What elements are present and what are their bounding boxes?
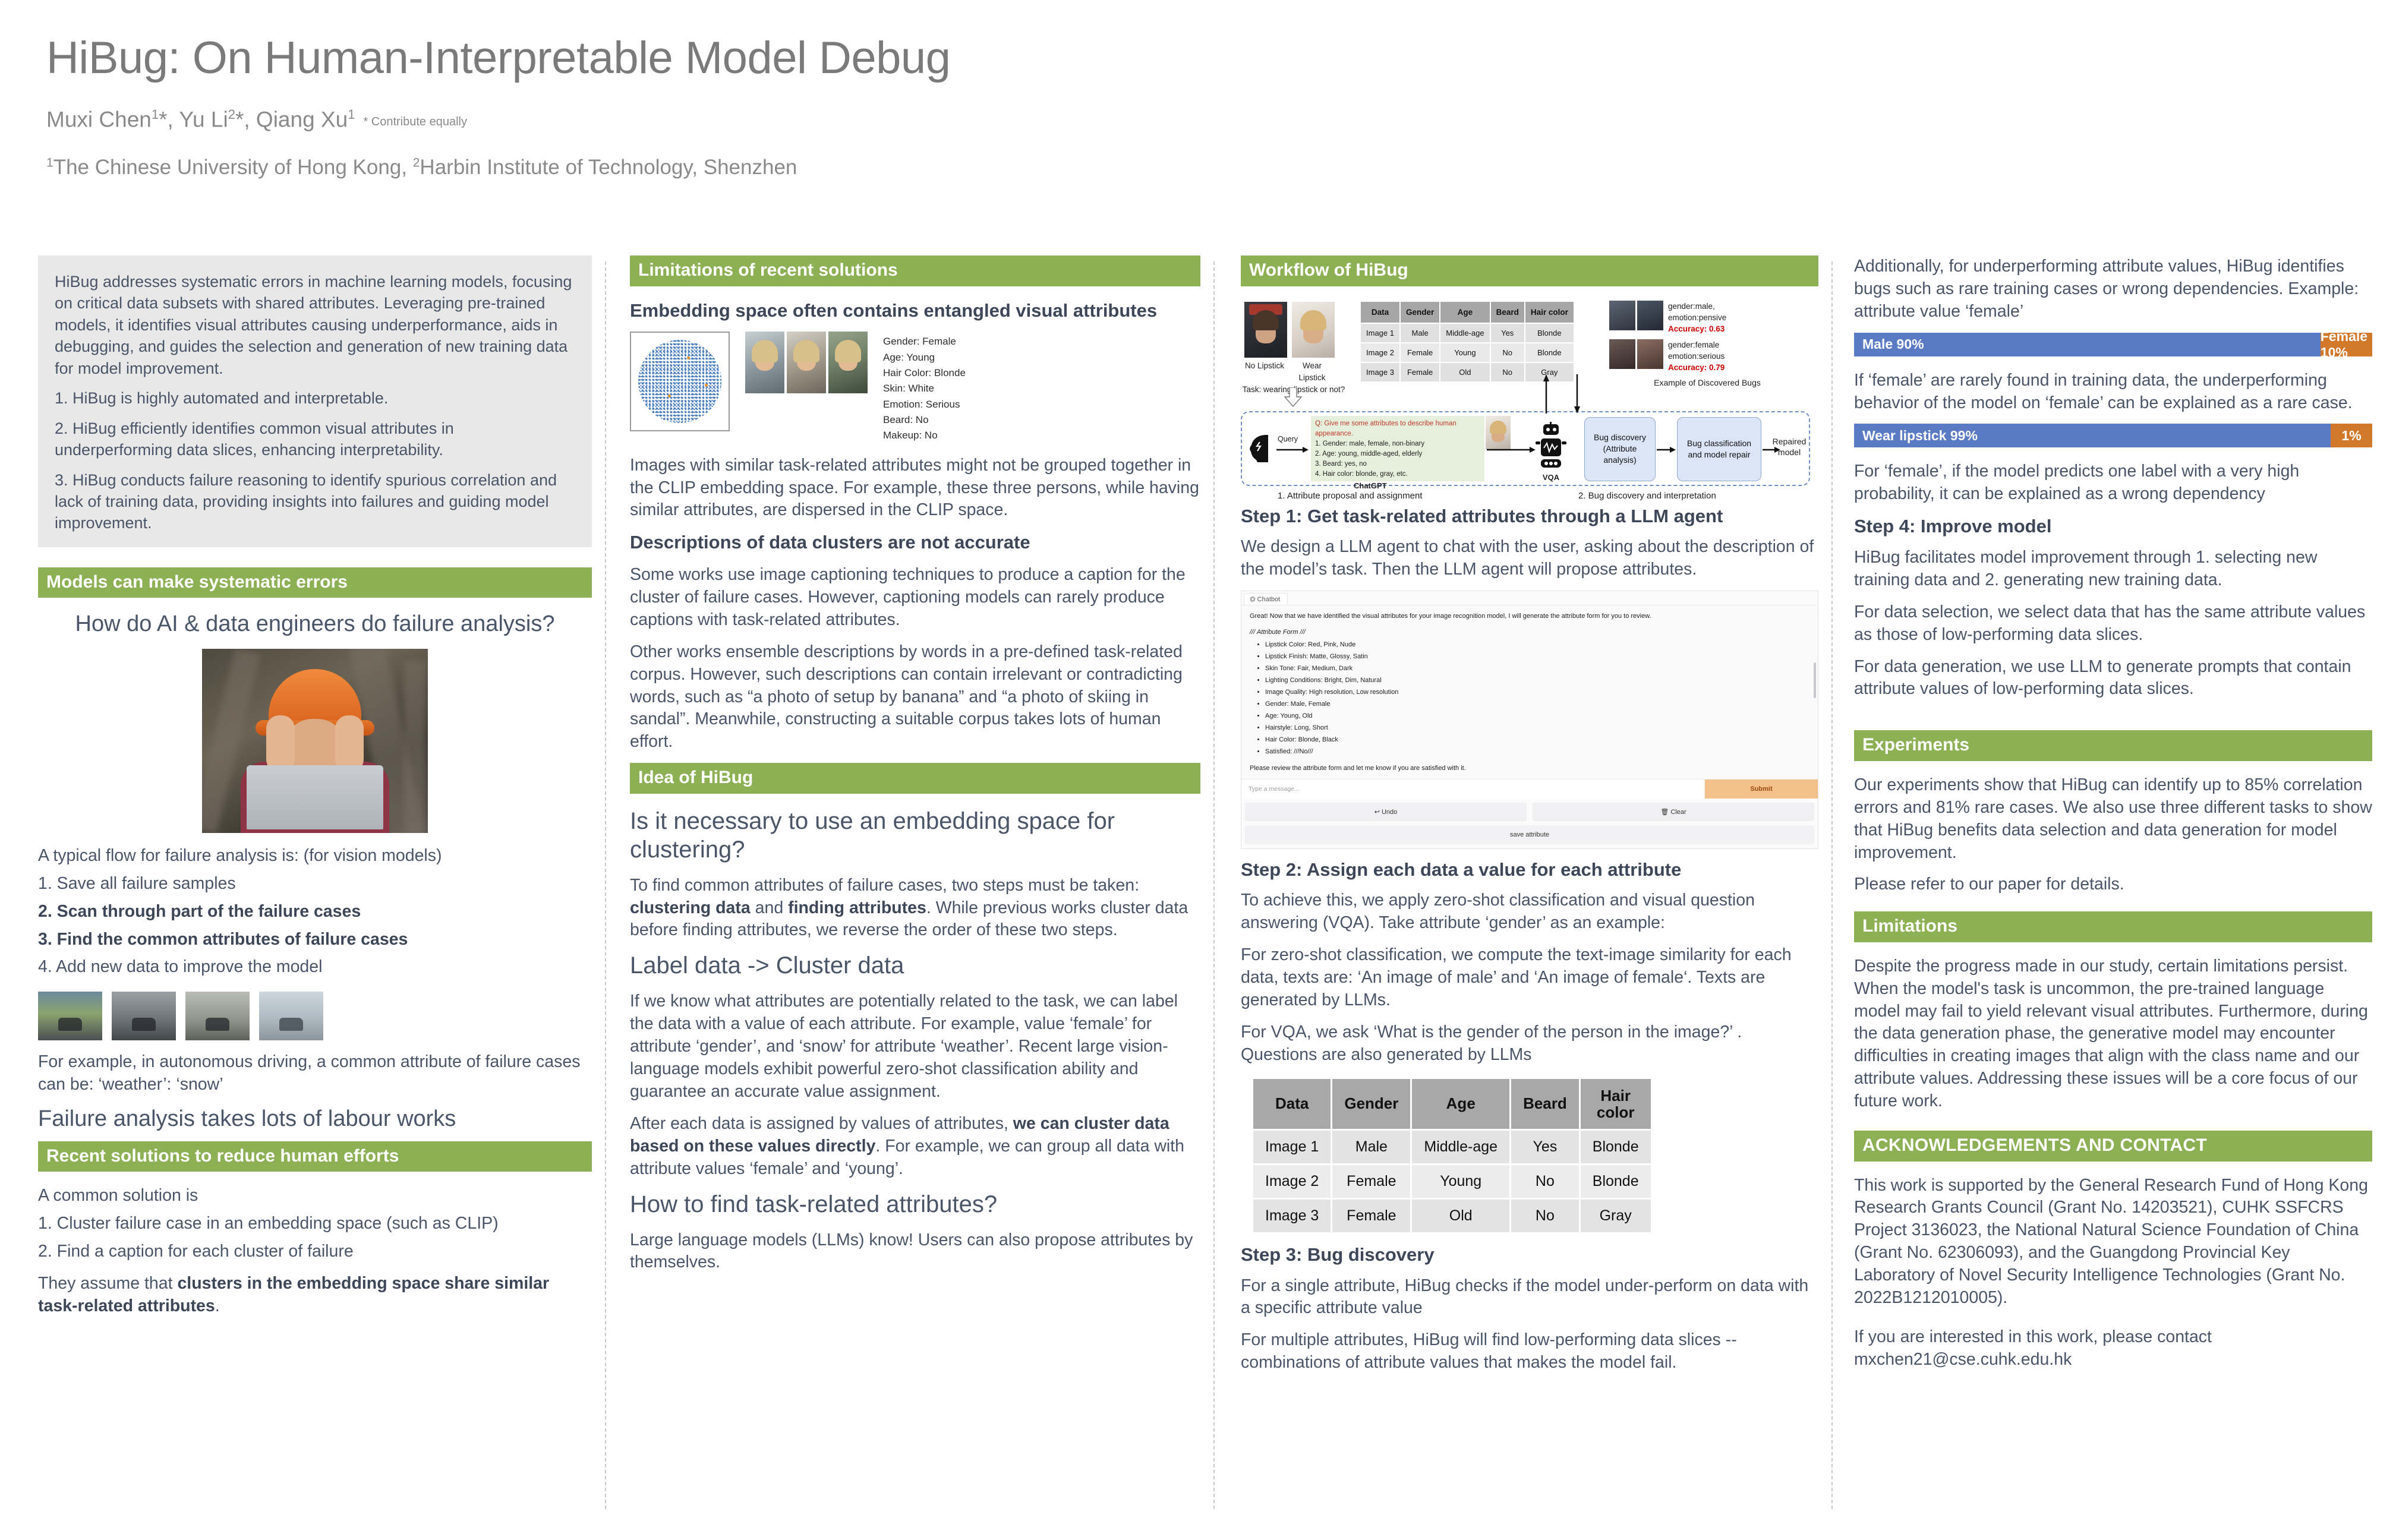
attribute-form-list: Lipstick Color: Red, Pink, Nude Lipstick… bbox=[1265, 639, 1809, 758]
prompt-item-2: 2. Age: young, middle-aged, elderly bbox=[1315, 449, 1480, 459]
limitations-paragraph: Despite the progress made in our study, … bbox=[1854, 955, 2372, 1113]
author-list: Muxi Chen1*, Yu Li2*, Qiang Xu1 * Contri… bbox=[46, 107, 2396, 132]
underperforming-intro: Additionally, for underperforming attrib… bbox=[1854, 255, 2372, 323]
failure-analysis-question: How do AI & data engineers do failure an… bbox=[38, 611, 592, 638]
submit-button[interactable]: Submit bbox=[1705, 780, 1818, 799]
th-data: Data bbox=[1360, 301, 1400, 323]
face-image-2 bbox=[787, 332, 826, 393]
q1-text-a: To find common attributes of failure cas… bbox=[630, 876, 1139, 895]
bug1-line2: emotion:pensive bbox=[1668, 312, 1726, 323]
labour-line: Failure analysis takes lots of labour wo… bbox=[38, 1106, 592, 1133]
bar-segment-other: 1% bbox=[2331, 424, 2372, 447]
cell-age: Young bbox=[1411, 1164, 1511, 1198]
bug2-line1: gender:female bbox=[1668, 339, 1725, 351]
bug2-face-b bbox=[1637, 339, 1663, 369]
undo-icon: ↩ bbox=[1374, 809, 1380, 816]
save-attribute-button[interactable]: save attribute bbox=[1245, 825, 1814, 844]
wear-lipstick-image bbox=[1292, 302, 1335, 358]
acknowledgements-paragraph: This work is supported by the General Re… bbox=[1854, 1175, 2372, 1309]
cell-gender: Female bbox=[1400, 362, 1440, 382]
list-item: Gender: Male, Female bbox=[1265, 698, 1809, 710]
section-header-recent-solutions: Recent solutions to reduce human efforts bbox=[38, 1141, 592, 1172]
section-header-acknowledgements: ACKNOWLEDGEMENTS AND CONTACT bbox=[1854, 1131, 2372, 1162]
undo-button[interactable]: ↩ Undo bbox=[1245, 803, 1527, 821]
table-row: Image 3 Female Old No Gray bbox=[1360, 362, 1574, 382]
poster-columns: HiBug addresses systematic errors in mac… bbox=[0, 255, 2396, 1539]
bug-example-1: gender:male, emotion:pensive Accuracy: 0… bbox=[1609, 301, 1805, 334]
bug1-face-b bbox=[1637, 301, 1663, 330]
assume-suffix: . bbox=[215, 1296, 220, 1315]
step1-text: We design a LLM agent to chat with the u… bbox=[1241, 536, 1818, 581]
cell-gender: Female bbox=[1332, 1164, 1411, 1198]
cell-age: Old bbox=[1440, 362, 1490, 382]
subhead-entangled-attributes: Embedding space often contains entangled… bbox=[630, 299, 1200, 323]
clip-attr-hair: Hair Color: Blonde bbox=[883, 365, 966, 381]
cell-hair: Blonde bbox=[1580, 1129, 1651, 1164]
attribute-form-title: /// Attribute Form /// bbox=[1250, 629, 1809, 636]
poster-header: HiBug: On Human-Interpretable Model Debu… bbox=[0, 0, 2396, 179]
step2-paragraph-3: For VQA, we ask ‘What is the gender of t… bbox=[1241, 1021, 1818, 1066]
bug2-face-a bbox=[1609, 339, 1635, 369]
common-solution-intro: A common solution is bbox=[38, 1185, 592, 1207]
worried-engineer-photo bbox=[202, 649, 428, 833]
affiliations: 1The Chinese University of Hong Kong, 2H… bbox=[46, 156, 2396, 179]
th-age: Age bbox=[1440, 301, 1490, 323]
flow-step-2: 2. Scan through part of the failure case… bbox=[38, 901, 592, 923]
cell-data: Image 2 bbox=[1253, 1164, 1332, 1198]
table-row: Image 3 Female Old No Gray bbox=[1253, 1198, 1652, 1233]
chatbot-scrollbar[interactable] bbox=[1814, 662, 1816, 698]
workflow-footer-2: 2. Bug discovery and interpretation bbox=[1578, 491, 1716, 501]
th-hair-color: Haircolor bbox=[1580, 1078, 1651, 1129]
idea-question-3: How to find task-related attributes? bbox=[630, 1190, 1200, 1219]
list-item: Skin Tone: Fair, Medium, Dark bbox=[1265, 662, 1809, 674]
column-1: HiBug addresses systematic errors in mac… bbox=[0, 255, 606, 1539]
list-item: Age: Young, Old bbox=[1265, 710, 1809, 722]
clip-figure: Gender: Female Age: Young Hair Color: Bl… bbox=[630, 332, 1200, 443]
q2-text-a: After each data is assigned by values of… bbox=[630, 1114, 1013, 1133]
chatbot-tab[interactable]: ⏣ Chatbot bbox=[1244, 593, 1288, 605]
bar-segment-male: Male 90% bbox=[1854, 333, 2321, 356]
chatbot-message-input[interactable]: Type a message... bbox=[1241, 780, 1705, 799]
chatbot-button-row: ↩ Undo 🗑 Clear bbox=[1241, 799, 1818, 825]
section-header-limitations: Limitations of recent solutions bbox=[630, 255, 1200, 286]
cell-gender: Male bbox=[1400, 323, 1440, 343]
subhead-descriptions-not-accurate: Descriptions of data clusters are not ac… bbox=[630, 531, 1200, 554]
lipstick-prediction-bar: Wear lipstick 99% 1% bbox=[1854, 424, 2372, 447]
cell-age: Old bbox=[1411, 1198, 1511, 1233]
column-4: Additionally, for underperforming attrib… bbox=[1833, 255, 2396, 1539]
list-item: Lighting Conditions: Bright, Dim, Natura… bbox=[1265, 674, 1809, 686]
prompt-item-1: 1. Gender: male, female, non-binary bbox=[1315, 439, 1480, 449]
step4-paragraph-1: HiBug facilitates model improvement thro… bbox=[1854, 547, 2372, 592]
section-header-systematic-errors: Models can make systematic errors bbox=[38, 567, 592, 598]
idea-q2-paragraph-2: After each data is assigned by values of… bbox=[630, 1113, 1200, 1181]
bugs-caption: Example of Discovered Bugs bbox=[1609, 378, 1805, 387]
experiments-paragraph-2: Please refer to our paper for details. bbox=[1854, 873, 2372, 896]
chat-icon: ⏣ bbox=[1250, 596, 1256, 603]
abstract-paragraph: HiBug addresses systematic errors in mac… bbox=[55, 271, 575, 379]
cell-gender: Female bbox=[1332, 1198, 1411, 1233]
vqa-label: VQA bbox=[1536, 473, 1566, 482]
table-header-row: Data Gender Age Beard Haircolor bbox=[1253, 1078, 1652, 1129]
table-row: Image 2 Female Young No Blonde bbox=[1360, 343, 1574, 362]
th-gender: Gender bbox=[1400, 301, 1440, 323]
cell-data: Image 3 bbox=[1360, 362, 1400, 382]
driving-caption: For example, in autonomous driving, a co… bbox=[38, 1051, 592, 1096]
clear-button[interactable]: 🗑 Clear bbox=[1533, 803, 1814, 821]
q1-text-b: and bbox=[751, 898, 788, 917]
bug-discovery-box: Bug discovery (Attribute analysis) bbox=[1584, 417, 1656, 481]
table-row: Image 2 Female Young No Blonde bbox=[1253, 1164, 1652, 1198]
cell-beard: Yes bbox=[1490, 323, 1525, 343]
table-row: Image 1 Male Middle-age Yes Blonde bbox=[1360, 323, 1574, 343]
step4-heading: Step 4: Improve model bbox=[1854, 515, 2372, 538]
gender-distribution-bar: Male 90% Female 10% bbox=[1854, 333, 2372, 356]
chatbot-tab-label: Chatbot bbox=[1257, 596, 1281, 603]
limitations-paragraph-2: Other works ensemble descriptions by wor… bbox=[630, 641, 1200, 753]
bar-segment-wear-lipstick: Wear lipstick 99% bbox=[1854, 424, 2331, 447]
prompt-item-4: 4. Hair color: blonde, gray, etc. bbox=[1315, 469, 1480, 479]
chatgpt-prompt-box: Q: Give me some attributes to describe h… bbox=[1311, 416, 1484, 481]
bug1-face-a bbox=[1609, 301, 1635, 330]
cell-beard: No bbox=[1511, 1198, 1580, 1233]
clip-attr-beard: Beard: No bbox=[883, 412, 966, 428]
thumb-mist bbox=[185, 992, 250, 1040]
label-no-lipstick: No Lipstick bbox=[1243, 360, 1286, 384]
th-gender: Gender bbox=[1332, 1078, 1411, 1129]
clip-attr-makeup: Makeup: No bbox=[883, 428, 966, 443]
section-header-workflow: Workflow of HiBug bbox=[1241, 255, 1818, 286]
repaired-model-label: Repaired model bbox=[1770, 436, 1809, 457]
idea-question-1-text: To find common attributes of failure cas… bbox=[630, 875, 1200, 942]
query-label: Query bbox=[1278, 435, 1298, 443]
idea-question-2: Label data -> Cluster data bbox=[630, 951, 1200, 980]
table-header-row: Data Gender Age Beard Hair color bbox=[1360, 301, 1574, 323]
th-beard: Beard bbox=[1490, 301, 1525, 323]
clip-attr-emotion: Emotion: Serious bbox=[883, 397, 966, 412]
vqa-robot-icon bbox=[1536, 422, 1566, 473]
chatbot-message-area: Great! Now that we have identified the v… bbox=[1241, 605, 1818, 779]
flow-step-1: 1. Save all failure samples bbox=[38, 873, 592, 895]
cell-beard: No bbox=[1490, 362, 1525, 382]
thumb-fog bbox=[112, 992, 176, 1040]
thumb-rain bbox=[38, 992, 102, 1040]
cell-gender: Male bbox=[1332, 1129, 1411, 1164]
chatbot-tail-message: Please review the attribute form and let… bbox=[1250, 765, 1809, 772]
abstract-point-3: 3. HiBug conducts failure reasoning to i… bbox=[55, 469, 575, 534]
bug-example-2: gender:female emotion:serious Accuracy: … bbox=[1609, 339, 1805, 373]
abstract-point-2: 2. HiBug efficiently identifies common v… bbox=[55, 418, 575, 461]
step1-heading: Step 1: Get task-related attributes thro… bbox=[1241, 505, 1818, 528]
experiments-paragraph-1: Our experiments show that HiBug can iden… bbox=[1854, 774, 2372, 864]
trash-icon: 🗑 bbox=[1660, 809, 1669, 816]
th-age: Age bbox=[1411, 1078, 1511, 1129]
step3-heading: Step 3: Bug discovery bbox=[1241, 1244, 1818, 1267]
contact-paragraph: If you are interested in this work, plea… bbox=[1854, 1326, 2372, 1371]
face-image-1 bbox=[745, 332, 784, 393]
poster-root: HiBug: On Human-Interpretable Model Debu… bbox=[0, 0, 2396, 1540]
cell-gender: Female bbox=[1400, 343, 1440, 362]
cell-age: Middle-age bbox=[1411, 1129, 1511, 1164]
bar-segment-female: Female 10% bbox=[2321, 333, 2372, 356]
q1-bold-b: finding attributes bbox=[788, 898, 926, 917]
idea-q2-paragraph-1: If we know what attributes are potential… bbox=[630, 990, 1200, 1103]
th-hair: Hair color bbox=[1525, 301, 1574, 323]
common-solution-step-1: 1. Cluster failure case in an embedding … bbox=[38, 1213, 592, 1235]
similar-faces-row bbox=[745, 332, 868, 393]
cell-beard: No bbox=[1490, 343, 1525, 362]
bug-classification-box: Bug classification and model repair bbox=[1677, 417, 1761, 481]
list-item: Image Quality: High resolution, Low reso… bbox=[1265, 686, 1809, 698]
section-header-limitations-2: Limitations bbox=[1854, 911, 2372, 942]
clip-attr-skin: Skin: White bbox=[883, 381, 966, 396]
common-solution-step-2: 2. Find a caption for each cluster of fa… bbox=[38, 1241, 592, 1263]
face-image-3 bbox=[828, 332, 868, 393]
flow-step-3: 3. Find the common attributes of failure… bbox=[38, 929, 592, 951]
workflow-diagram: No Lipstick Wear Lipstick Task: wearing … bbox=[1241, 299, 1811, 496]
chatbot-lead-message: Great! Now that we have identified the v… bbox=[1250, 611, 1809, 621]
vqa-input-image bbox=[1486, 416, 1511, 449]
prompt-question: Q: Give me some attributes to describe h… bbox=[1315, 419, 1480, 439]
no-lipstick-image bbox=[1244, 302, 1287, 358]
cell-data: Image 3 bbox=[1253, 1198, 1332, 1233]
cell-hair: Blonde bbox=[1525, 323, 1574, 343]
abstract-box: HiBug addresses systematic errors in mac… bbox=[38, 255, 592, 547]
column-2: Limitations of recent solutions Embeddin… bbox=[606, 255, 1215, 1539]
column-3: Workflow of HiBug No Lipstick Wear Lipst… bbox=[1215, 255, 1833, 1539]
cell-beard: No bbox=[1511, 1164, 1580, 1198]
cell-hair: Blonde bbox=[1525, 343, 1574, 362]
list-item: Lipstick Color: Red, Pink, Nude bbox=[1265, 639, 1809, 651]
cell-data: Image 2 bbox=[1360, 343, 1400, 362]
flow-step-4: 4. Add new data to improve the model bbox=[38, 956, 592, 979]
step4-paragraph-2: For data selection, we select data that … bbox=[1854, 601, 2372, 646]
limitations-paragraph-1: Some works use image captioning techniqu… bbox=[630, 564, 1200, 632]
discovered-bugs-panel: gender:male, emotion:pensive Accuracy: 0… bbox=[1609, 301, 1805, 388]
step2-heading: Step 2: Assign each data a value for eac… bbox=[1241, 859, 1818, 882]
step2-paragraph-1: To achieve this, we apply zero-shot clas… bbox=[1241, 889, 1818, 935]
driving-thumbnails bbox=[38, 992, 592, 1040]
step3-paragraph-1: For a single attribute, HiBug checks if … bbox=[1241, 1275, 1818, 1320]
table-row: Image 1 Male Middle-age Yes Blonde bbox=[1253, 1129, 1652, 1164]
section-header-experiments: Experiments bbox=[1854, 730, 2372, 761]
clip-attr-age: Age: Young bbox=[883, 350, 966, 365]
task-example-images bbox=[1244, 302, 1335, 358]
brain-icon bbox=[1248, 434, 1275, 463]
workflow-footer-1: 1. Attribute proposal and assignment bbox=[1278, 491, 1423, 501]
cell-beard: Yes bbox=[1511, 1129, 1580, 1164]
idea-q3-paragraph: Large language models (LLMs) know! Users… bbox=[630, 1229, 1200, 1274]
thumb-snow bbox=[259, 992, 323, 1040]
clip-attribute-list: Gender: Female Age: Young Hair Color: Bl… bbox=[883, 332, 966, 443]
cell-hair: Gray bbox=[1580, 1198, 1651, 1233]
assumption-text: They assume that clusters in the embeddi… bbox=[38, 1273, 592, 1318]
th-data: Data bbox=[1253, 1078, 1332, 1129]
undo-label: Undo bbox=[1382, 809, 1397, 816]
attribute-data-table: Data Gender Age Beard Haircolor Image 1 … bbox=[1251, 1077, 1653, 1234]
contribute-note: * Contribute equally bbox=[363, 115, 467, 132]
workflow-attribute-table: Data Gender Age Beard Hair color Image 1… bbox=[1360, 301, 1575, 383]
page-title: HiBug: On Human-Interpretable Model Debu… bbox=[46, 34, 2396, 82]
bug1-line1: gender:male, bbox=[1668, 301, 1726, 312]
list-item: Lipstick Finish: Matte, Glossy, Satin bbox=[1265, 651, 1809, 662]
clear-label: Clear bbox=[1670, 809, 1686, 816]
flow-intro: A typical flow for failure analysis is: … bbox=[38, 845, 592, 867]
cell-data: Image 1 bbox=[1360, 323, 1400, 343]
wrong-dependency-text: For ‘female’, if the model predicts one … bbox=[1854, 460, 2372, 506]
cell-hair: Blonde bbox=[1580, 1164, 1651, 1198]
cell-age: Young bbox=[1440, 343, 1490, 362]
abstract-point-1: 1. HiBug is highly automated and interpr… bbox=[55, 387, 575, 409]
clip-attr-gender: Gender: Female bbox=[883, 334, 966, 349]
chatgpt-label: ChatGPT bbox=[1354, 481, 1387, 490]
cell-age: Middle-age bbox=[1440, 323, 1490, 343]
author-names: Muxi Chen1*, Yu Li2*, Qiang Xu1 bbox=[46, 107, 355, 132]
clip-caption: Images with similar task-related attribu… bbox=[630, 455, 1200, 522]
th-beard: Beard bbox=[1511, 1078, 1580, 1129]
label-wear-lipstick: Wear Lipstick bbox=[1291, 360, 1333, 384]
list-item: Hair Color: Blonde, Black bbox=[1265, 734, 1809, 746]
rare-case-text: If ‘female’ are rarely found in training… bbox=[1854, 370, 2372, 415]
step3-paragraph-2: For multiple attributes, HiBug will find… bbox=[1241, 1329, 1818, 1374]
step4-paragraph-3: For data generation, we use LLM to gener… bbox=[1854, 656, 2372, 701]
clip-scatter-plot bbox=[630, 332, 730, 431]
bug1-accuracy: Accuracy: 0.63 bbox=[1668, 323, 1726, 334]
list-item: Satisfied: ///No/// bbox=[1265, 746, 1809, 758]
prompt-item-3: 3. Beard: yes, no bbox=[1315, 459, 1480, 469]
chatbot-input-row: Type a message... Submit bbox=[1241, 779, 1818, 799]
engineer-photo-wrap bbox=[38, 649, 592, 833]
bug2-accuracy: Accuracy: 0.79 bbox=[1668, 362, 1725, 373]
step2-paragraph-2: For zero-shot classification, we compute… bbox=[1241, 944, 1818, 1012]
list-item: Hairstyle: Long, Short bbox=[1265, 722, 1809, 734]
q1-bold-a: clustering data bbox=[630, 898, 751, 917]
cell-data: Image 1 bbox=[1253, 1129, 1332, 1164]
bug2-line2: emotion:serious bbox=[1668, 351, 1725, 362]
idea-question-1: Is it necessary to use an embedding spac… bbox=[630, 807, 1200, 864]
section-header-idea-of-hibug: Idea of HiBug bbox=[630, 763, 1200, 794]
chatbot-screenshot: ⏣ Chatbot Great! Now that we have identi… bbox=[1241, 591, 1818, 849]
assume-prefix: They assume that bbox=[38, 1274, 177, 1293]
